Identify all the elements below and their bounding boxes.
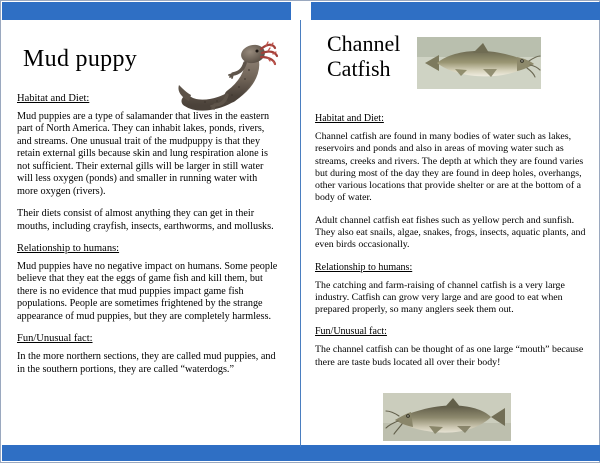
right-heading-habitat: Habitat and Diet:	[315, 113, 587, 124]
left-heading-habitat: Habitat and Diet:	[17, 93, 279, 104]
left-heading-relationship: Relationship to humans:	[17, 243, 279, 254]
left-para-fun-fact-1: In the more northern sections, they are …	[17, 351, 279, 376]
right-para-relationship-1: The catching and farm-raising of channel…	[315, 280, 587, 317]
left-column-body: Habitat and Diet: Mud puppies are a type…	[17, 93, 279, 386]
left-para-relationship-1: Mud puppies have no negative impact on h…	[17, 261, 279, 323]
top-band-notch	[291, 2, 311, 20]
brochure-page: Mud puppy	[0, 0, 600, 463]
left-para-habitat-1: Mud puppies are a type of salamander tha…	[17, 111, 279, 198]
channel-catfish-photo-bottom	[383, 393, 511, 441]
right-para-habitat-1: Channel catfish are found in many bodies…	[315, 131, 587, 205]
right-heading-fun-fact: Fun/Unusual fact:	[315, 326, 587, 337]
bottom-blue-band	[2, 445, 600, 461]
right-column-body: Habitat and Diet: Channel catfish are fo…	[315, 113, 587, 379]
left-para-habitat-2: Their diets consist of almost anything t…	[17, 208, 279, 233]
left-heading-fun-fact: Fun/Unusual fact:	[17, 333, 279, 344]
right-para-fun-fact-1: The channel catfish can be thought of as…	[315, 344, 587, 369]
right-para-habitat-2: Adult channel catfish eat fishes such as…	[315, 215, 587, 252]
right-heading-relationship: Relationship to humans:	[315, 262, 587, 273]
channel-catfish-photo-top	[417, 37, 541, 89]
